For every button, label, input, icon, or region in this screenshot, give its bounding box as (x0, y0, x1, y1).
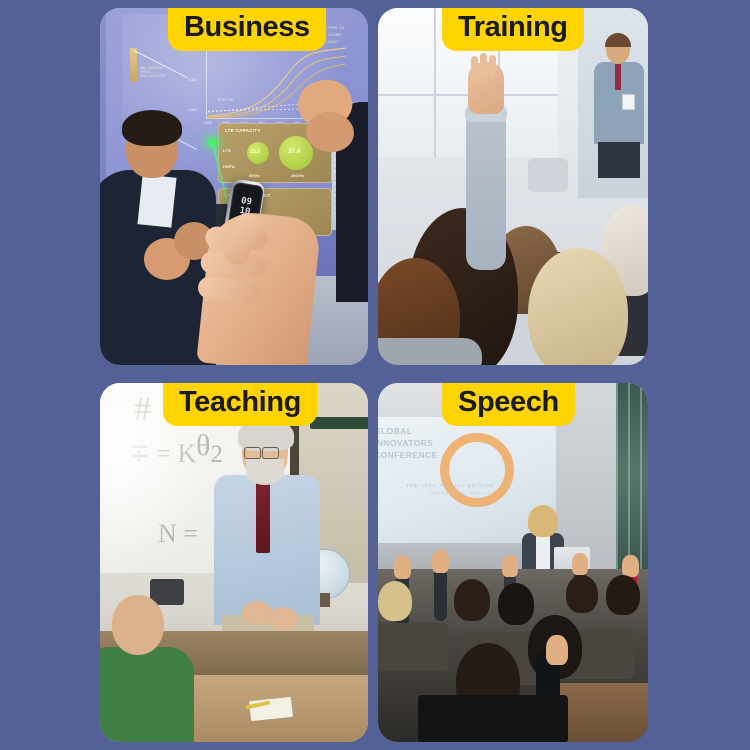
training-scene (378, 8, 648, 365)
glasses-left-lens (244, 447, 261, 459)
attendee-body-1 (378, 338, 482, 365)
finger-3 (197, 276, 261, 304)
tag-training: Training (442, 8, 584, 51)
lte-axis-label-1: HSPA (223, 164, 235, 169)
hand-finger-3 (489, 55, 496, 79)
professor-hand-right (268, 607, 298, 631)
student-jacket (100, 647, 194, 742)
raised-hand-arm (466, 62, 506, 272)
slide-title-line-2: CONFERENCE (378, 450, 438, 460)
slide-caption: SEPTEMBER 2024 — MAIN HALL (430, 491, 492, 495)
professor-beard (246, 459, 284, 485)
audience-head-back-2 (454, 579, 490, 621)
training-desk-front (528, 158, 568, 192)
seated-businessman (100, 118, 216, 365)
instructor-tie (615, 64, 621, 90)
hand-finger-1 (471, 56, 478, 78)
professor-tie (256, 479, 270, 553)
panel-business[interactable]: MID DEMANDPRICEERO 2015 LTE ERO 2015 MBI… (100, 8, 368, 365)
lte-tick-0: 800Hz (249, 174, 260, 178)
audience-hand-1 (394, 555, 411, 579)
audience-arm-2 (434, 565, 447, 621)
speech-scene: GLOBAL INNOVATORS CONFERENCE THE 15TH AN… (378, 383, 648, 742)
lte-axis-label-0: LTE (223, 148, 231, 153)
business-scene: MID DEMANDPRICEERO 2015 LTE ERO 2015 MBI… (100, 8, 368, 365)
audience-head-back-5 (606, 575, 640, 615)
audience-hand-5 (622, 555, 639, 577)
audience-head-back-1 (378, 581, 412, 621)
audience-seat-front (418, 695, 568, 742)
laser-pointer-dot (208, 138, 217, 147)
tag-business: Business (168, 8, 326, 51)
professor (212, 425, 322, 655)
panel-teaching[interactable]: # ∓ = K N = θ2 (100, 383, 368, 742)
student-head (112, 595, 164, 655)
holding-hand (196, 209, 321, 365)
audience-hand-3 (502, 555, 518, 577)
conference-ring-logo (440, 433, 514, 507)
foreground-student (100, 595, 186, 742)
tag-teaching: Teaching (163, 383, 317, 426)
slide-title-line-1: INNOVATORS (378, 438, 433, 448)
training-instructor (592, 36, 646, 176)
slide-title-line-0: GLOBAL (378, 426, 412, 436)
lte-bubble-small-value: 15.2 (250, 149, 260, 155)
panel-training[interactable]: Training (378, 8, 648, 365)
slide-axis-note: POPL 3G (218, 98, 234, 102)
arm-sleeve (466, 110, 506, 270)
slide-title: GLOBAL INNOVATORS CONFERENCE (378, 425, 438, 461)
slide-subtitle: THE 15TH ANNUAL EDITION (406, 483, 495, 488)
audience-head-back-4 (566, 575, 598, 613)
audience-hand-front (546, 635, 568, 665)
lte-capacity-title: LTE CAPACITY (225, 128, 261, 133)
aisle-floor (558, 683, 648, 742)
tag-speech: Speech (442, 383, 575, 426)
panel-grid: MID DEMANDPRICEERO 2015 LTE ERO 2015 MBI… (100, 8, 648, 742)
businessman-shirt (137, 174, 176, 227)
speaker-hair (528, 505, 558, 537)
businessman-hair (122, 110, 182, 146)
audience-hand-4 (572, 553, 588, 575)
instructor-trousers (598, 142, 640, 178)
panel-speech[interactable]: GLOBAL INNOVATORS CONFERENCE THE 15TH AN… (378, 383, 648, 742)
instructor-hair (605, 33, 631, 47)
instructor-badge (622, 94, 635, 110)
audience-hand-2 (432, 549, 449, 573)
hand-finger-2 (480, 53, 487, 79)
audience-seat-1 (378, 623, 448, 671)
glasses-right-lens (262, 447, 279, 459)
teaching-scene: # ∓ = K N = θ2 (100, 383, 368, 742)
audience-head-back-3 (498, 583, 534, 625)
